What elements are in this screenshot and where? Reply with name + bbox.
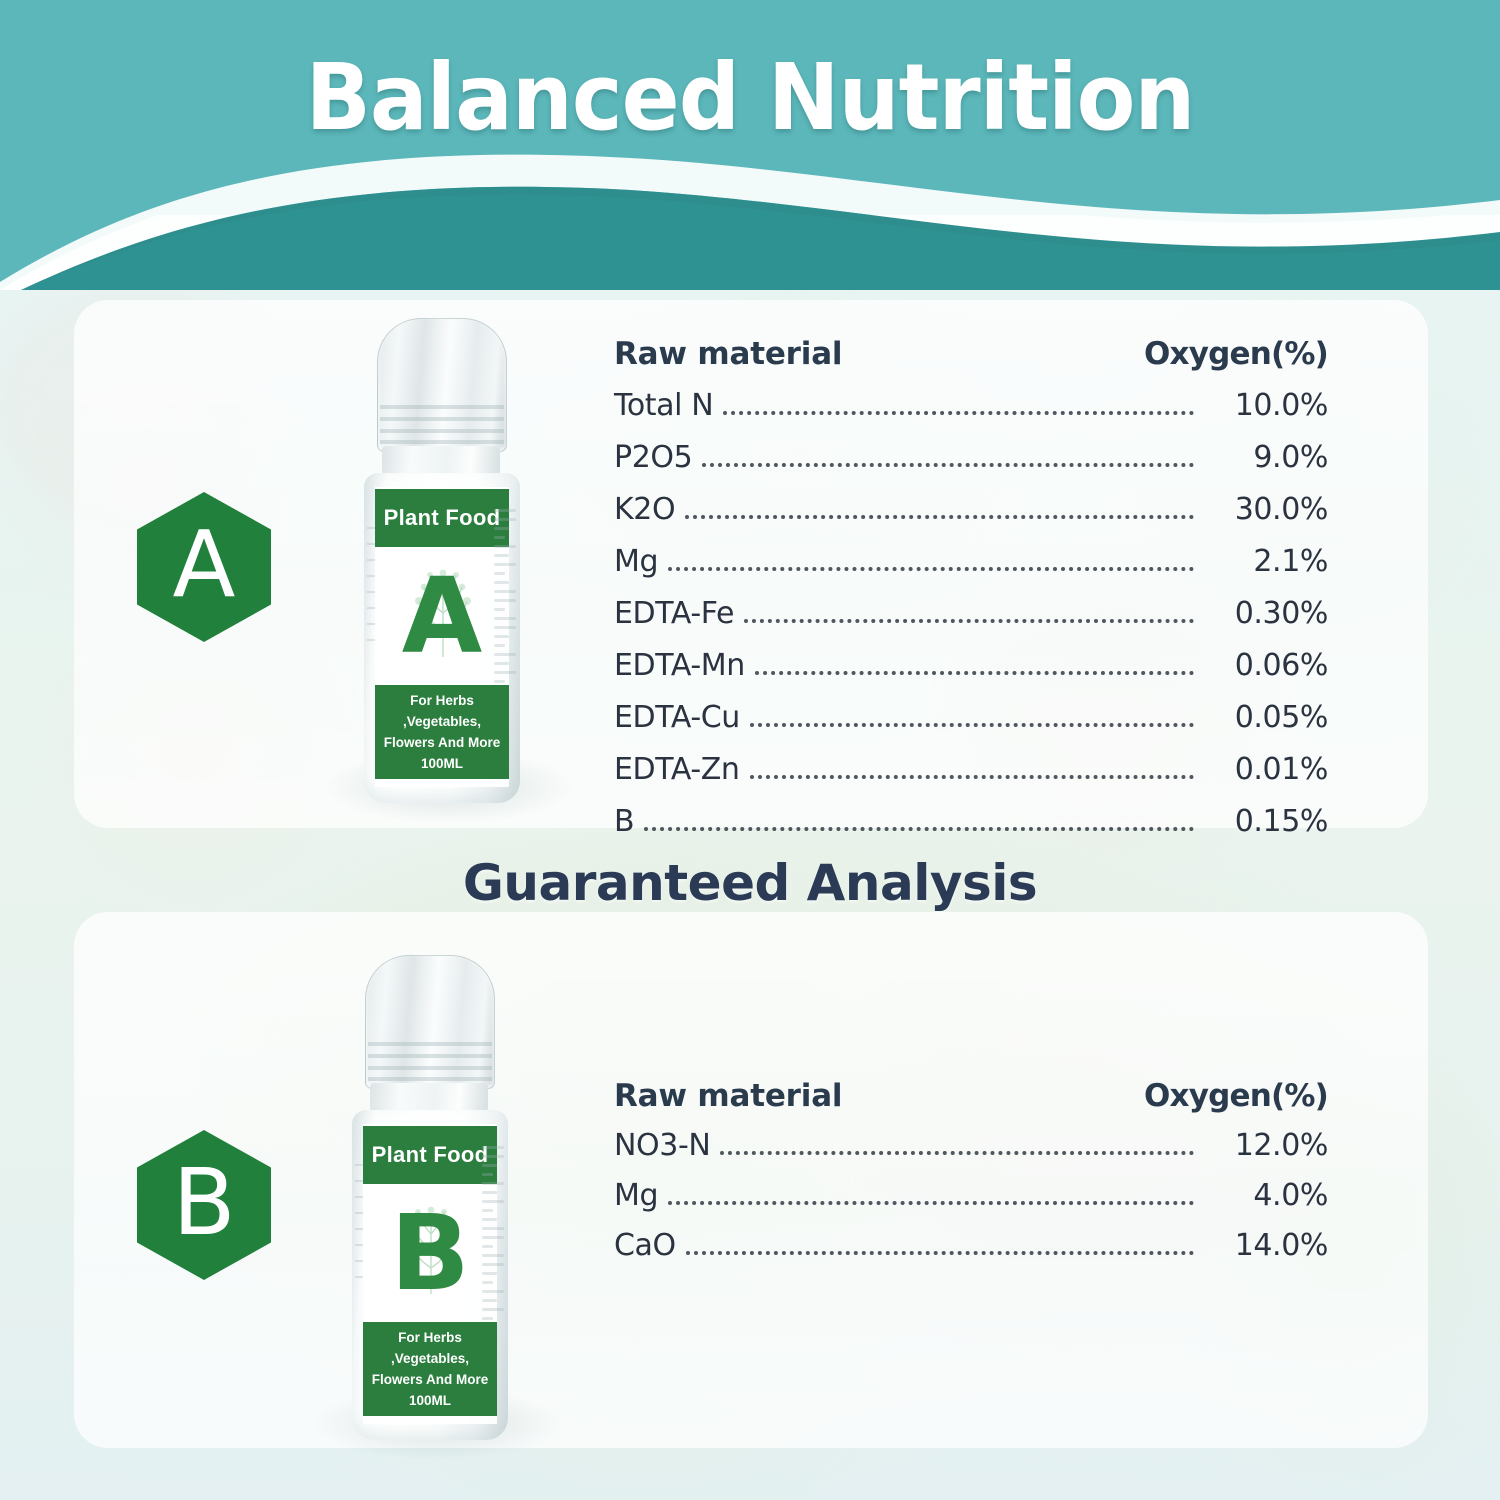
table-row: EDTA-Cu 0.05% [614,700,1328,736]
section-heading: Guaranteed Analysis [0,854,1500,912]
dot-leader [668,567,1194,571]
dot-leader [744,619,1194,623]
bottle-label-a: Plant Food A [375,487,509,787]
label-brand-band: Plant Food [363,1126,497,1184]
nutrition-table-a: Raw material Oxygen(%) Total N 10.0% P2O… [614,336,1328,840]
label-usage-line2: Flowers And More [372,1370,489,1391]
row-name: EDTA-Zn [614,752,740,787]
dot-leader [723,411,1194,415]
row-value: 2.1% [1202,544,1328,579]
row-name: EDTA-Mn [614,648,745,683]
bottle-cap [365,955,495,1089]
table-row: EDTA-Fe 0.30% [614,596,1328,632]
column-header-oxygen: Oxygen(%) [1144,336,1328,372]
table-row: P2O5 9.0% [614,440,1328,476]
page-title: Balanced Nutrition [53,44,1448,151]
label-usage-band: For Herbs ,Vegetables, Flowers And More … [375,685,509,779]
badge-letter-b: B [172,1157,235,1249]
header-banner: Balanced Nutrition [0,0,1500,290]
label-usage-line2: Flowers And More [384,733,501,754]
infographic-canvas: Balanced Nutrition A Plant Food [0,0,1500,1500]
row-value: 30.0% [1202,492,1328,527]
dot-leader [668,1201,1194,1205]
row-value: 0.05% [1202,700,1328,735]
table-row: Mg 4.0% [614,1178,1328,1214]
dot-leader [755,671,1194,675]
column-header-raw-material: Raw material [614,1078,842,1114]
bottle-label-b: Plant Food B [363,1124,497,1424]
row-value: 4.0% [1202,1178,1328,1213]
row-value: 10.0% [1202,388,1328,423]
row-name: Total N [614,388,713,423]
label-usage-band: For Herbs ,Vegetables, Flowers And More … [363,1322,497,1416]
bottle-side-text [494,503,516,773]
row-name: EDTA-Fe [614,596,734,631]
row-value: 0.15% [1202,804,1328,839]
label-brand-band: Plant Food [375,489,509,547]
row-name: Mg [614,1178,658,1213]
label-brand-text: Plant Food [384,505,501,531]
label-letter-b: B [363,1186,497,1320]
dot-leader [720,1151,1194,1155]
table-header-b: Raw material Oxygen(%) [614,1078,1328,1114]
row-value: 0.30% [1202,596,1328,631]
label-volume: 100ML [421,754,463,775]
row-value: 0.01% [1202,752,1328,787]
dot-leader [750,775,1194,779]
dot-leader [685,515,1194,519]
row-name: B [614,804,634,839]
table-header-a: Raw material Oxygen(%) [614,336,1328,372]
table-row: NO3-N 12.0% [614,1128,1328,1164]
row-name: NO3-N [614,1128,710,1163]
label-volume: 100ML [409,1391,451,1412]
row-name: CaO [614,1228,676,1263]
row-value: 12.0% [1202,1128,1328,1163]
product-bottle-b: Plant Food B [340,955,520,1465]
table-row: Total N 10.0% [614,388,1328,424]
row-value: 0.06% [1202,648,1328,683]
bottle-body: Plant Food A [364,473,520,803]
row-name: P2O5 [614,440,692,475]
product-bottle-a: Plant Food A [352,318,532,828]
badge-letter-a: A [173,519,236,611]
bottle-side-text [482,1140,504,1410]
table-row: K2O 30.0% [614,492,1328,528]
table-row: B 0.15% [614,804,1328,840]
dot-leader [750,723,1194,727]
row-value: 14.0% [1202,1228,1328,1263]
bottle-cap [377,318,507,452]
table-row: Mg 2.1% [614,544,1328,580]
nutrition-table-b: Raw material Oxygen(%) NO3-N 12.0% Mg 4.… [614,1078,1328,1264]
bottle-body: Plant Food B [352,1110,508,1440]
label-usage-line1: For Herbs ,Vegetables, [363,1328,497,1370]
row-value: 9.0% [1202,440,1328,475]
label-usage-line1: For Herbs ,Vegetables, [375,691,509,733]
table-row: CaO 14.0% [614,1228,1328,1264]
column-header-oxygen: Oxygen(%) [1144,1078,1328,1114]
label-brand-text: Plant Food [372,1142,489,1168]
dot-leader [686,1251,1194,1255]
dot-leader [644,827,1194,831]
row-name: Mg [614,544,658,579]
dot-leader [702,463,1194,467]
table-row: EDTA-Mn 0.06% [614,648,1328,684]
row-name: EDTA-Cu [614,700,740,735]
row-name: K2O [614,492,675,527]
table-row: EDTA-Zn 0.01% [614,752,1328,788]
label-letter-a: A [375,549,509,683]
column-header-raw-material: Raw material [614,336,842,372]
